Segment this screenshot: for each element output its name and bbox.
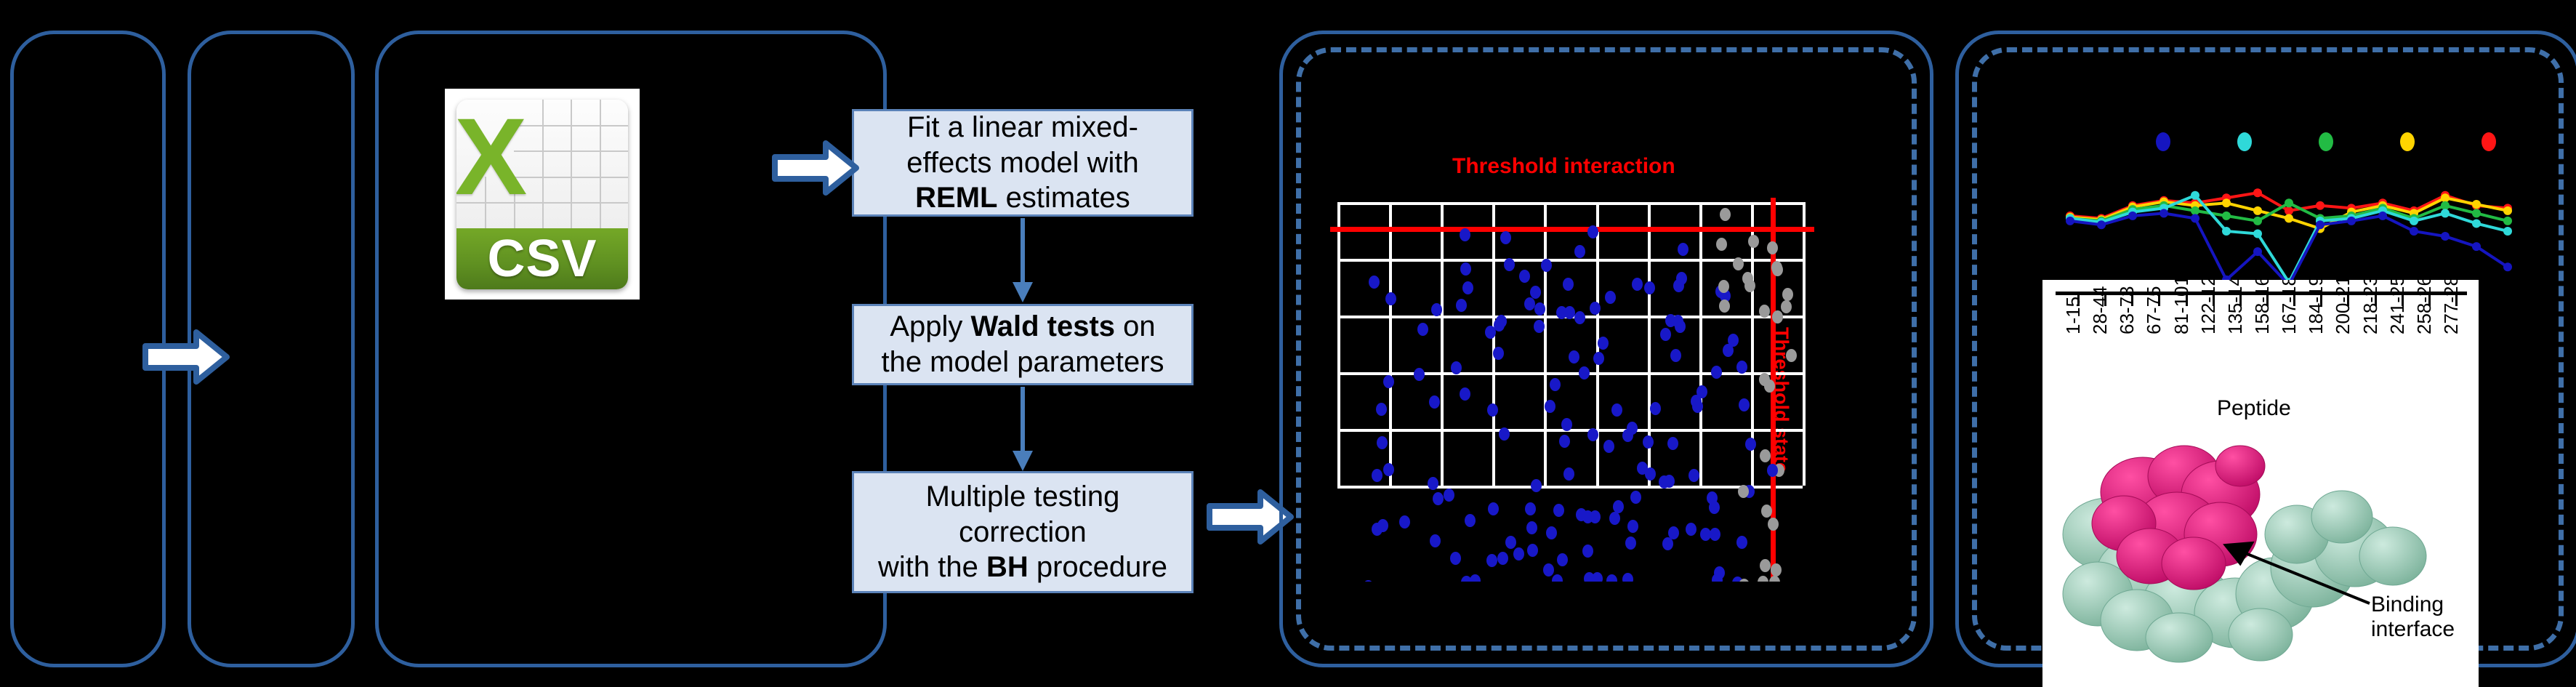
scatter-point bbox=[1561, 418, 1572, 431]
scatter-gridline-vertical bbox=[1492, 202, 1495, 486]
x-axis-tick-label: 28-44 bbox=[2089, 286, 2112, 335]
scatter-point bbox=[1733, 257, 1744, 270]
peptide-series-line bbox=[2070, 213, 2508, 285]
scatter-point bbox=[1552, 574, 1563, 582]
scatter-gridline-vertical bbox=[1441, 202, 1444, 486]
peptide-series-marker bbox=[2222, 212, 2231, 220]
scatter-point bbox=[1611, 403, 1622, 417]
scatter-point bbox=[1451, 361, 1462, 374]
peptide-series-marker bbox=[2316, 220, 2325, 229]
peptide-axis-and-structure-card: 1-1528-4463-7367-7581-101122-129135-1441… bbox=[2042, 280, 2479, 687]
scatter-point bbox=[1487, 403, 1498, 417]
scatter-point bbox=[1675, 320, 1686, 333]
scatter-point bbox=[1414, 368, 1425, 381]
scatter-point bbox=[1691, 395, 1702, 408]
scatter-point bbox=[1465, 514, 1476, 527]
binding-interface-annotation: Binding interface bbox=[2371, 592, 2455, 641]
scatter-point bbox=[1590, 302, 1601, 315]
scatter-point bbox=[1593, 352, 1604, 365]
scatter-point bbox=[1662, 537, 1673, 550]
peptide-series-marker bbox=[2410, 227, 2418, 236]
scatter-point bbox=[1530, 286, 1541, 299]
peptide-series-marker bbox=[2191, 191, 2199, 200]
scatter-point bbox=[1767, 241, 1778, 254]
peptide-series-marker bbox=[2128, 212, 2137, 220]
x-axis-tick-label: 200-214 bbox=[2332, 280, 2354, 334]
scatter-point bbox=[1534, 320, 1545, 333]
scatter-gridline-vertical bbox=[1803, 202, 1806, 486]
scatter-point bbox=[1758, 576, 1768, 582]
peptide-series-marker bbox=[2410, 217, 2418, 225]
scatter-point bbox=[1709, 501, 1720, 514]
scatter-point bbox=[1720, 208, 1731, 221]
scatter-point bbox=[1369, 276, 1380, 289]
peptide-series-marker bbox=[2441, 201, 2450, 210]
scatter-point bbox=[1660, 328, 1671, 341]
scatter-point bbox=[1399, 515, 1410, 529]
scatter-point bbox=[1550, 378, 1561, 391]
scatter-point bbox=[1632, 278, 1643, 291]
scatter-point bbox=[1609, 512, 1620, 525]
reml-keyword: REML bbox=[915, 182, 997, 214]
x-axis-tick-label: 218-237 bbox=[2359, 280, 2382, 334]
peptide-series-marker bbox=[2503, 262, 2512, 271]
peptide-series-marker bbox=[2191, 214, 2199, 222]
scatter-point bbox=[1645, 467, 1656, 481]
scatter-point bbox=[1559, 435, 1570, 448]
peptide-line-plot bbox=[2006, 116, 2529, 298]
scatter-point bbox=[1606, 574, 1617, 582]
x-axis-tick-label: 277-284 bbox=[2440, 280, 2463, 334]
scatter-point bbox=[1587, 225, 1598, 238]
scatter-point bbox=[1625, 537, 1636, 550]
peptide-series-marker bbox=[2441, 209, 2450, 217]
x-axis-tick-label: 167-180 bbox=[2278, 280, 2301, 334]
scatter-gridline-horizontal bbox=[1337, 372, 1803, 375]
peptide-series-marker bbox=[2253, 230, 2262, 238]
step-fit-model-line2: effects model with bbox=[906, 145, 1138, 181]
scatter-point bbox=[1504, 258, 1515, 271]
legend-dot bbox=[2400, 132, 2415, 151]
scatter-point bbox=[1716, 238, 1727, 251]
scatter-gridline-vertical bbox=[1389, 202, 1392, 486]
scatter-point bbox=[1748, 235, 1759, 248]
peptide-series-marker bbox=[2472, 219, 2481, 228]
scatter-point bbox=[1603, 440, 1614, 453]
scatter-point bbox=[1786, 349, 1797, 362]
peptide-series-marker bbox=[2285, 214, 2293, 222]
peptide-series-marker bbox=[2222, 198, 2231, 207]
scatter-point bbox=[1531, 479, 1542, 492]
bh-suffix: procedure bbox=[1029, 551, 1167, 583]
legend-dot bbox=[2482, 132, 2496, 151]
scatter-point bbox=[1678, 243, 1689, 256]
scatter-point bbox=[1772, 263, 1783, 276]
x-axis-tick-label: 135-144 bbox=[2224, 280, 2247, 334]
scatter-point bbox=[1576, 508, 1587, 521]
x-axis-tick-label: 184-199 bbox=[2305, 280, 2327, 334]
scatter-point bbox=[1524, 297, 1535, 310]
binding-interface-line2: interface bbox=[2371, 617, 2455, 642]
x-axis-tick-label: 1-15 bbox=[2062, 297, 2085, 334]
scatter-point bbox=[1525, 502, 1536, 515]
step-fit-model-line3: REML estimates bbox=[906, 180, 1138, 216]
scatter-point bbox=[1605, 291, 1616, 304]
legend-dot bbox=[2237, 132, 2252, 151]
peptide-series-marker bbox=[2503, 217, 2512, 225]
scatter-point bbox=[1513, 547, 1524, 561]
scatter-point bbox=[1363, 580, 1374, 582]
peptide-series-marker bbox=[2441, 193, 2450, 202]
peptide-series-marker bbox=[2253, 217, 2262, 225]
scatter-point bbox=[1744, 279, 1755, 292]
binding-interface-line1: Binding bbox=[2371, 592, 2455, 617]
peptide-series-marker bbox=[2253, 247, 2262, 256]
peptide-series-marker bbox=[2378, 212, 2387, 220]
bh-prefix: with the bbox=[878, 551, 986, 583]
scatter-point bbox=[1667, 437, 1678, 450]
scatter-point bbox=[1545, 400, 1555, 413]
scatter-point bbox=[1760, 559, 1771, 572]
threshold-scatter-plot: Threshold interaction Threshold state bbox=[1330, 87, 1890, 582]
scatter-point bbox=[1723, 344, 1734, 357]
scatter-point bbox=[1781, 300, 1792, 313]
peptide-series-marker bbox=[2347, 217, 2356, 225]
x-axis-tick-label: 241-257 bbox=[2386, 280, 2409, 334]
scatter-point bbox=[1460, 262, 1471, 276]
step-fit-model-line3-rest: estimates bbox=[998, 182, 1130, 214]
peptide-series-marker bbox=[2160, 209, 2168, 217]
scatter-point bbox=[1627, 520, 1638, 533]
scatter-point bbox=[1499, 427, 1510, 441]
scatter-point bbox=[1563, 278, 1574, 291]
scatter-point bbox=[1557, 553, 1568, 566]
scatter-point bbox=[1543, 563, 1554, 576]
scatter-point bbox=[1579, 366, 1590, 379]
peptide-series-marker bbox=[2191, 206, 2199, 215]
peptide-series-marker bbox=[2503, 227, 2512, 236]
scatter-point bbox=[1519, 270, 1530, 283]
scatter-point bbox=[1372, 469, 1382, 482]
scatter-gridline-horizontal bbox=[1337, 202, 1803, 205]
peptide-series-marker bbox=[2222, 227, 2231, 236]
scatter-point bbox=[1686, 523, 1696, 536]
step-multiple-testing-box[interactable]: Multiple testing correction with the BH … bbox=[852, 471, 1194, 593]
peptide-series-marker bbox=[2253, 188, 2262, 197]
scatter-point bbox=[1670, 349, 1681, 362]
wald-suffix: on bbox=[1115, 310, 1156, 342]
scatter-point bbox=[1622, 573, 1633, 582]
peptide-series-marker bbox=[2316, 201, 2325, 210]
step-wald-tests-box[interactable]: Apply Wald tests on the model parameters bbox=[852, 304, 1194, 385]
scatter-point bbox=[1574, 311, 1585, 324]
step-mt-line1: Multiple testing bbox=[878, 479, 1167, 515]
x-axis-tick-label: 67-75 bbox=[2143, 286, 2165, 335]
step-mt-line2: correction bbox=[878, 515, 1167, 550]
scatter-point bbox=[1541, 259, 1552, 272]
scatter-point bbox=[1417, 323, 1428, 336]
scatter-point bbox=[1650, 402, 1661, 415]
scatter-point bbox=[1712, 574, 1723, 582]
wald-keyword: Wald tests bbox=[971, 310, 1116, 342]
step-wald-line1: Apply Wald tests on bbox=[881, 309, 1164, 345]
x-axis-tick-label: 81-101 bbox=[2170, 280, 2193, 334]
scatter-point bbox=[1385, 292, 1396, 305]
scatter-point bbox=[1497, 552, 1508, 565]
scatter-point bbox=[1582, 545, 1593, 558]
scatter-point bbox=[1456, 299, 1467, 312]
step-fit-model-box[interactable]: Fit a linear mixed- effects model with R… bbox=[852, 109, 1194, 217]
scatter-point bbox=[1673, 279, 1684, 292]
scatter-point bbox=[1760, 449, 1771, 462]
scatter-point bbox=[1462, 281, 1473, 294]
scatter-point bbox=[1376, 403, 1387, 416]
scatter-point bbox=[1488, 502, 1499, 515]
scatter-point bbox=[1500, 231, 1511, 244]
scatter-gridline-vertical bbox=[1337, 202, 1340, 486]
scatter-point bbox=[1584, 572, 1595, 582]
scatter-point bbox=[1444, 489, 1454, 502]
peptide-series-marker bbox=[2472, 200, 2481, 209]
scatter-point bbox=[1659, 475, 1670, 489]
peptide-series-marker bbox=[2066, 217, 2074, 225]
peptide-series-marker bbox=[2285, 206, 2293, 215]
scatter-point bbox=[1718, 280, 1729, 293]
scatter-point bbox=[1563, 467, 1574, 481]
scatter-point bbox=[1486, 554, 1497, 567]
scatter-point bbox=[1782, 288, 1793, 301]
y-axis-tick-0: 0.0 bbox=[2000, 275, 2031, 300]
step-fit-model-line1: Fit a linear mixed- bbox=[906, 110, 1138, 145]
down-arrow-wald-to-mt bbox=[1010, 387, 1035, 471]
scatter-gridline-vertical bbox=[1544, 202, 1547, 486]
peptide-series-marker bbox=[2441, 232, 2450, 241]
scatter-point bbox=[1526, 521, 1537, 534]
scatter-point bbox=[1719, 300, 1730, 313]
scatter-point bbox=[1643, 435, 1654, 449]
scatter-point bbox=[1377, 436, 1388, 449]
scatter-point bbox=[1534, 302, 1545, 316]
peptide-series-marker bbox=[2285, 198, 2293, 207]
scatter-point bbox=[1553, 504, 1564, 517]
scatter-gridline-horizontal bbox=[1337, 486, 1803, 489]
scatter-point bbox=[1450, 552, 1461, 565]
scatter-point bbox=[1769, 576, 1780, 582]
x-axis-tick-label: 258-266 bbox=[2413, 280, 2436, 334]
scatter-point bbox=[1574, 245, 1585, 258]
scatter-point bbox=[1546, 526, 1557, 539]
threshold-interaction-line bbox=[1330, 227, 1814, 232]
scatter-point bbox=[1768, 518, 1779, 531]
scatter-point bbox=[1644, 281, 1655, 294]
down-arrow-fit-to-wald bbox=[1010, 218, 1035, 302]
step-wald-line2: the model parameters bbox=[881, 345, 1164, 380]
scatter-point bbox=[1772, 310, 1783, 324]
scatter-point bbox=[1496, 315, 1507, 328]
scatter-point bbox=[1433, 492, 1444, 505]
peptide-series-marker bbox=[2097, 220, 2106, 229]
right-arrow-csv-to-model bbox=[772, 140, 859, 196]
legend-dot bbox=[2319, 132, 2333, 151]
scatter-point bbox=[1527, 544, 1538, 557]
scatter-point bbox=[1564, 306, 1575, 319]
scatter-point bbox=[1460, 228, 1470, 241]
scatter-point bbox=[1627, 422, 1638, 435]
x-axis-tick-label: 63-73 bbox=[2116, 286, 2138, 335]
scatter-point bbox=[1736, 361, 1747, 374]
scatter-point bbox=[1429, 395, 1440, 409]
scatter-point bbox=[1710, 528, 1720, 541]
panel-statistical-modelling bbox=[375, 31, 887, 667]
peptide-series-marker bbox=[2472, 242, 2481, 251]
x-axis-tick-label: 122-129 bbox=[2197, 280, 2220, 334]
peptide-series-marker bbox=[2472, 209, 2481, 217]
scatter-point bbox=[1598, 337, 1609, 350]
bh-keyword: BH bbox=[986, 551, 1029, 583]
pipeline-diagram: X CSV Fit a linear mixed- effects model … bbox=[0, 0, 2576, 687]
scatter-point bbox=[1377, 519, 1388, 532]
step-mt-line3: with the BH procedure bbox=[878, 550, 1167, 585]
scatter-point bbox=[1383, 375, 1394, 388]
scatter-point bbox=[1736, 536, 1747, 549]
scatter-gridline-vertical bbox=[1699, 202, 1702, 486]
x-axis-title: Peptide bbox=[2217, 396, 2291, 421]
peptide-series-marker bbox=[2253, 206, 2262, 215]
wald-prefix: Apply bbox=[890, 310, 970, 342]
right-arrow-input-to-csv bbox=[142, 329, 230, 385]
scatter-point bbox=[1569, 350, 1579, 363]
scatter-point bbox=[1430, 534, 1441, 547]
scatter-point bbox=[1711, 366, 1722, 379]
scatter-point bbox=[1771, 563, 1782, 576]
scatter-point bbox=[1745, 438, 1756, 451]
scatter-point bbox=[1739, 579, 1750, 582]
scatter-point bbox=[1761, 505, 1772, 518]
x-axis-tick-label: 158-166 bbox=[2251, 280, 2274, 334]
scatter-point bbox=[1460, 387, 1470, 401]
scatter-point bbox=[1505, 536, 1516, 549]
scatter-point bbox=[1739, 398, 1750, 411]
scatter-point bbox=[1493, 347, 1504, 360]
legend-dot bbox=[2156, 132, 2170, 151]
scatter-point bbox=[1630, 491, 1641, 504]
scatter-point bbox=[1470, 574, 1481, 582]
scatter-point bbox=[1689, 469, 1699, 482]
scatter-point bbox=[1383, 463, 1394, 476]
peptide-series-marker bbox=[2503, 206, 2512, 215]
